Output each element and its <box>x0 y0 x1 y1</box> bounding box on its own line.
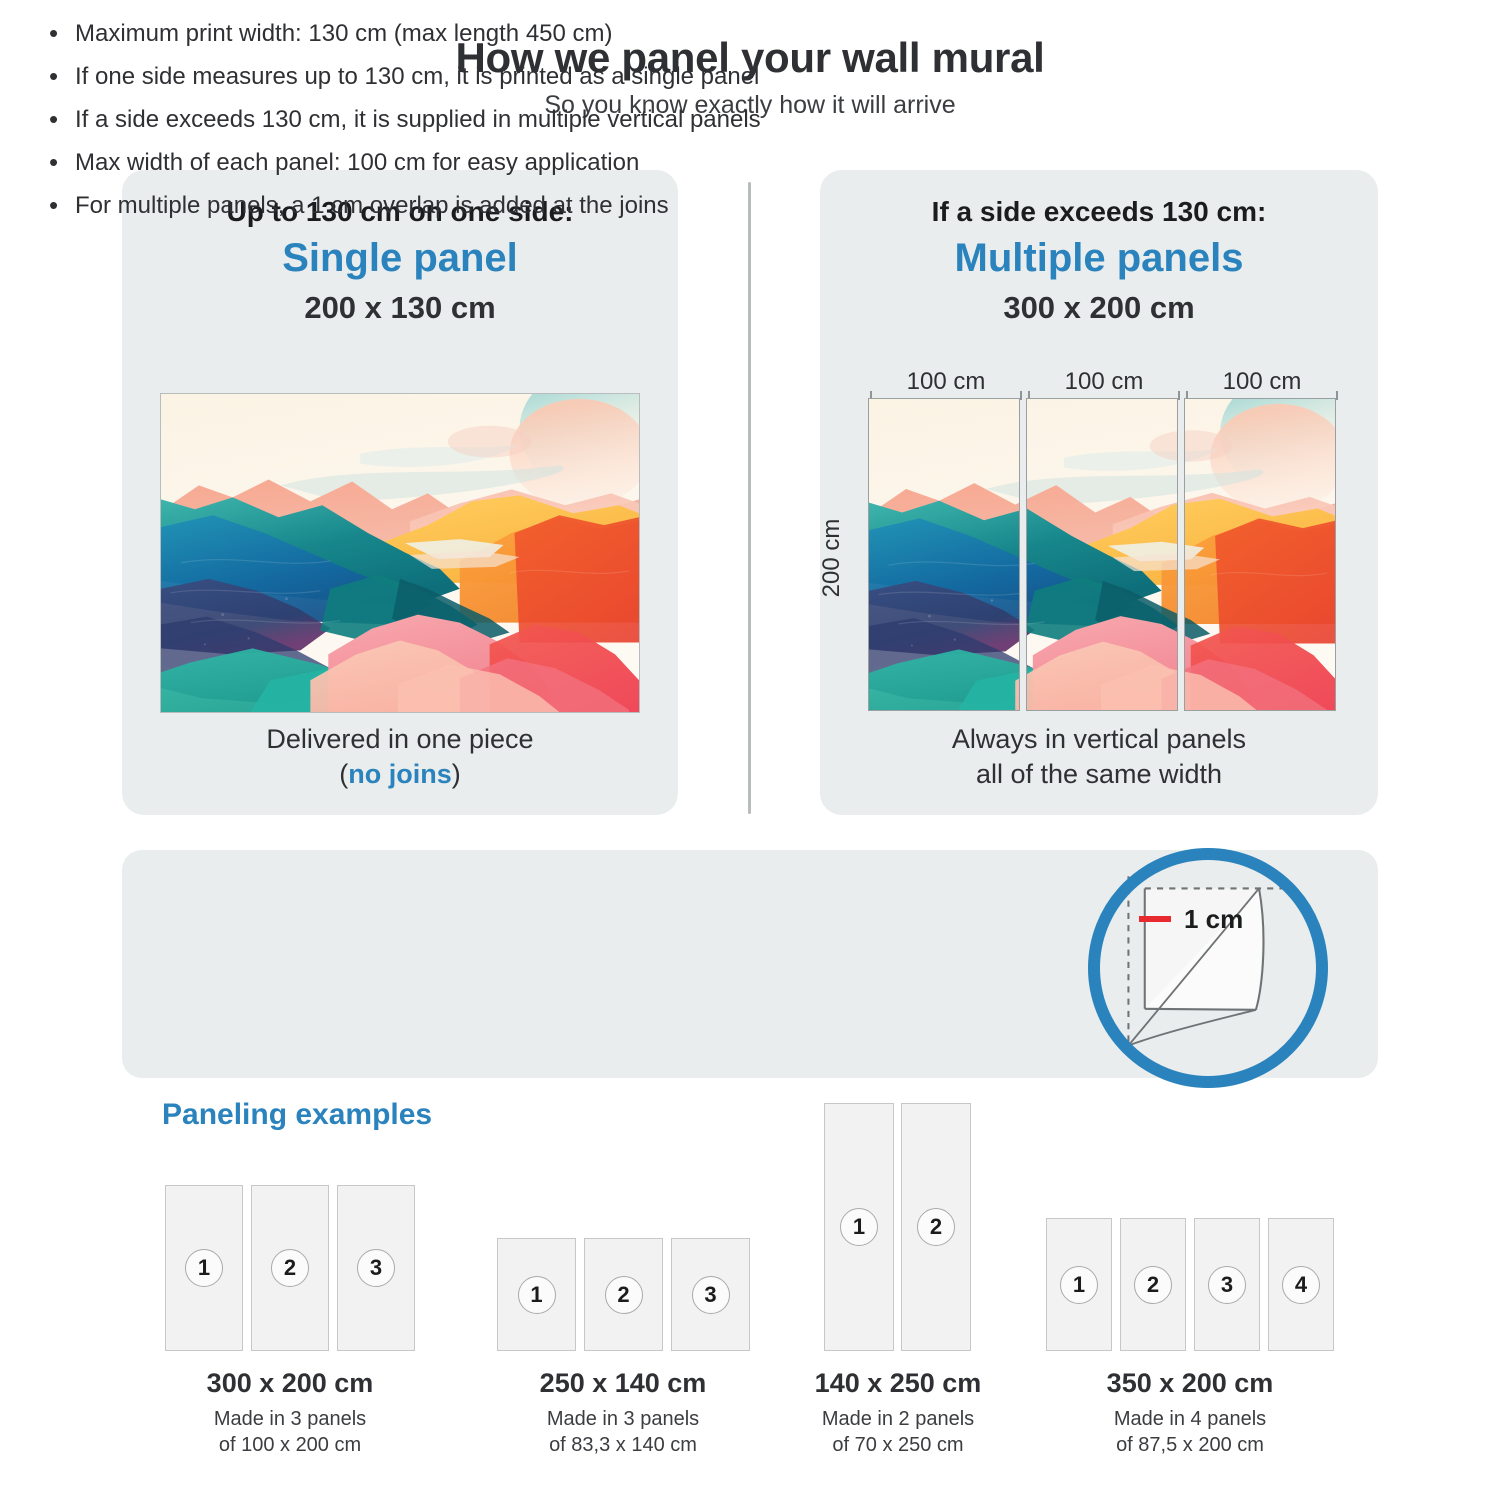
list-item: If a side exceeds 130 cm, it is supplied… <box>45 108 945 132</box>
example-2-desc: Made in 3 panels of 83,3 x 140 cm <box>473 1406 773 1459</box>
example-1-size: 300 x 200 cm <box>140 1368 440 1399</box>
multiple-panels-size: 300 x 200 cm <box>820 290 1378 326</box>
overlap-label: 1 cm <box>1184 904 1243 935</box>
example-2-panels: 1 2 3 <box>497 1238 750 1351</box>
single-panel-card-footer: Delivered in one piece (no joins) <box>122 722 678 791</box>
paren-open: ( <box>339 759 348 789</box>
example-2-caption: 250 x 140 cm Made in 3 panels of 83,3 x … <box>473 1368 773 1459</box>
example-3-size: 140 x 250 cm <box>748 1368 1048 1399</box>
mural-artwork-slice-1 <box>869 399 1020 710</box>
panel-width-measure-2: 100 cm <box>1028 370 1180 400</box>
panel-number: 3 <box>1208 1266 1246 1304</box>
list-item: Max width of each panel: 100 cm for easy… <box>45 151 945 175</box>
example-4-desc: Made in 4 panels of 87,5 x 200 cm <box>1040 1406 1340 1459</box>
list-item: If one side measures up to 130 cm, it is… <box>45 65 945 89</box>
panel-number: 3 <box>357 1249 395 1287</box>
list-item: For multiple panels, a 1 cm overlap is a… <box>45 194 945 218</box>
multiple-panels-mural <box>868 398 1336 711</box>
panel-number: 3 <box>692 1276 730 1314</box>
example-1-panel-2: 2 <box>251 1185 329 1351</box>
paneling-examples-title: Paneling examples <box>162 1098 432 1132</box>
example-3-caption: 140 x 250 cm Made in 2 panels of 70 x 25… <box>748 1368 1048 1459</box>
example-4-desc-line1: Made in 4 panels <box>1040 1406 1340 1432</box>
single-panel-footer-line2: (no joins) <box>122 757 678 792</box>
example-3-panel-1: 1 <box>824 1103 894 1351</box>
example-1-desc-line2: of 100 x 200 cm <box>140 1432 440 1458</box>
example-2-panel-1: 1 <box>497 1238 576 1351</box>
example-2-desc-line1: Made in 3 panels <box>473 1406 773 1432</box>
overlap-red-marker <box>1139 916 1171 922</box>
example-3-desc: Made in 2 panels of 70 x 250 cm <box>748 1406 1048 1459</box>
example-3-panel-2: 2 <box>901 1103 971 1351</box>
example-4-panels: 1 2 3 4 <box>1046 1218 1334 1351</box>
no-joins-accent: no joins <box>348 759 452 789</box>
example-1-caption: 300 x 200 cm Made in 3 panels of 100 x 2… <box>140 1368 440 1459</box>
example-3-desc-line1: Made in 2 panels <box>748 1406 1048 1432</box>
example-1-panel-1: 1 <box>165 1185 243 1351</box>
single-panel-size: 200 x 130 cm <box>122 290 678 326</box>
example-1-panels: 1 2 3 <box>165 1185 415 1351</box>
example-4-caption: 350 x 200 cm Made in 4 panels of 87,5 x … <box>1040 1368 1340 1459</box>
card-divider <box>748 182 751 814</box>
example-3-desc-line2: of 70 x 250 cm <box>748 1432 1048 1458</box>
panel-number: 2 <box>917 1208 955 1246</box>
example-4-size: 350 x 200 cm <box>1040 1368 1340 1399</box>
mural-artwork <box>161 394 639 712</box>
overlap-diagram: 1 cm <box>1088 848 1328 1088</box>
panel-width-measure-1: 100 cm <box>870 370 1022 400</box>
multiple-panels-footer-line2: all of the same width <box>820 757 1378 792</box>
example-1-panel-3: 3 <box>337 1185 415 1351</box>
mural-artwork-slice-2 <box>1026 399 1178 710</box>
example-4-panel-1: 1 <box>1046 1218 1112 1351</box>
multiple-panels-result: Multiple panels <box>820 236 1378 281</box>
panel-height-label: 200 cm <box>818 498 846 618</box>
panel-number: 1 <box>840 1208 878 1246</box>
example-1-desc: Made in 3 panels of 100 x 200 cm <box>140 1406 440 1459</box>
single-panel-result: Single panel <box>122 236 678 281</box>
panel-number: 2 <box>605 1276 643 1314</box>
single-panel-footer-line1: Delivered in one piece <box>122 722 678 757</box>
mural-panel-3 <box>1184 398 1336 711</box>
panel-number: 4 <box>1282 1266 1320 1304</box>
mural-panel-2 <box>1026 398 1178 711</box>
example-1-desc-line1: Made in 3 panels <box>140 1406 440 1432</box>
mural-panel-1 <box>868 398 1020 711</box>
example-3-panels: 1 2 <box>824 1103 971 1351</box>
example-4-desc-line2: of 87,5 x 200 cm <box>1040 1432 1340 1458</box>
example-2-panel-3: 3 <box>671 1238 750 1351</box>
panel-number: 1 <box>1060 1266 1098 1304</box>
mural-artwork-slice-3 <box>1184 399 1336 710</box>
example-2-panel-2: 2 <box>584 1238 663 1351</box>
example-4-panel-2: 2 <box>1120 1218 1186 1351</box>
infographic-page: How we panel your wall mural So you know… <box>0 0 1500 1500</box>
multiple-panels-footer-line1: Always in vertical panels <box>820 722 1378 757</box>
paren-close: ) <box>452 759 461 789</box>
circle-ring <box>1088 848 1328 1088</box>
example-2-size: 250 x 140 cm <box>473 1368 773 1399</box>
list-item: Maximum print width: 130 cm (max length … <box>45 22 945 46</box>
panel-width-measure-3: 100 cm <box>1186 370 1338 400</box>
panel-number: 1 <box>518 1276 556 1314</box>
example-4-panel-4: 4 <box>1268 1218 1334 1351</box>
single-panel-mural-frame <box>160 393 640 713</box>
multiple-panels-card-footer: Always in vertical panels all of the sam… <box>820 722 1378 791</box>
example-2-desc-line2: of 83,3 x 140 cm <box>473 1432 773 1458</box>
panel-number: 2 <box>1134 1266 1172 1304</box>
panel-number: 2 <box>271 1249 309 1287</box>
panel-number: 1 <box>185 1249 223 1287</box>
example-4-panel-3: 3 <box>1194 1218 1260 1351</box>
specs-list: Maximum print width: 130 cm (max length … <box>45 22 945 237</box>
